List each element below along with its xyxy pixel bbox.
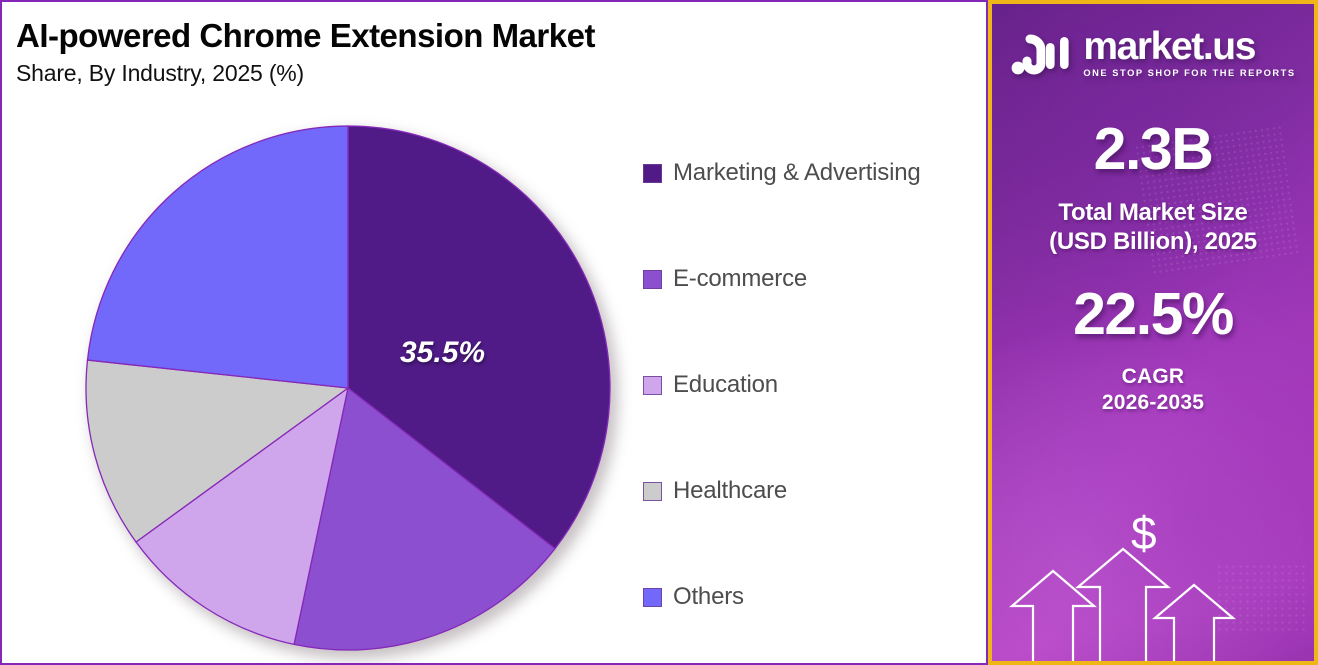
brand-logo[interactable]: market.us ONE STOP SHOP FOR THE REPORTS (992, 28, 1314, 78)
cagr-value: 22.5% (992, 285, 1314, 344)
chart-header: AI-powered Chrome Extension Market Share… (16, 18, 595, 87)
market-us-logo-icon (1010, 29, 1072, 77)
market-size-caption-line2: (USD Billion), 2025 (992, 228, 1314, 257)
legend-label: Marketing & Advertising (673, 159, 921, 187)
pie-slice[interactable] (87, 126, 348, 388)
chart-panel: AI-powered Chrome Extension Market Share… (0, 0, 988, 665)
legend-item-others[interactable]: Others (643, 544, 973, 650)
legend-label: E-commerce (673, 265, 807, 293)
legend-swatch-icon (643, 588, 662, 607)
legend-swatch-icon (643, 270, 662, 289)
legend-swatch-icon (643, 164, 662, 183)
legend-item-marketing-advertising[interactable]: Marketing & Advertising (643, 120, 973, 226)
chart-legend: Marketing & Advertising E-commerce Educa… (643, 120, 973, 650)
page-title: AI-powered Chrome Extension Market (16, 18, 595, 55)
legend-item-healthcare[interactable]: Healthcare (643, 438, 973, 544)
legend-item-education[interactable]: Education (643, 332, 973, 438)
legend-label: Education (673, 371, 778, 399)
growth-arrows-graphic: $ (992, 501, 1314, 661)
pie-chart: 35.5% (84, 124, 612, 652)
legend-swatch-icon (643, 482, 662, 501)
legend-swatch-icon (643, 376, 662, 395)
legend-item-e-commerce[interactable]: E-commerce (643, 226, 973, 332)
logo-wordmark: market.us (1083, 28, 1295, 65)
logo-text-block: market.us ONE STOP SHOP FOR THE REPORTS (1083, 28, 1295, 78)
up-arrow-icon-right (1155, 585, 1233, 661)
market-size-caption: Total Market Size (USD Billion), 2025 (992, 199, 1314, 257)
pie-data-label: 35.5% (400, 336, 485, 370)
logo-tagline: ONE STOP SHOP FOR THE REPORTS (1083, 68, 1295, 78)
legend-label: Healthcare (673, 477, 787, 505)
pie-slices (84, 124, 612, 652)
market-size-caption-line1: Total Market Size (992, 199, 1314, 228)
infographic-root: AI-powered Chrome Extension Market Share… (0, 0, 1318, 665)
dollar-sign-icon: $ (1131, 507, 1157, 559)
stats-panel: market.us ONE STOP SHOP FOR THE REPORTS … (988, 0, 1318, 665)
cagr-caption-line1: CAGR (992, 364, 1314, 390)
cagr-caption: CAGR 2026-2035 (992, 364, 1314, 417)
cagr-caption-line2: 2026-2035 (992, 390, 1314, 416)
legend-label: Others (673, 583, 744, 611)
market-size-value: 2.3B (992, 120, 1314, 179)
chart-subtitle: Share, By Industry, 2025 (%) (16, 60, 595, 87)
stats-content: market.us ONE STOP SHOP FOR THE REPORTS … (992, 28, 1314, 416)
